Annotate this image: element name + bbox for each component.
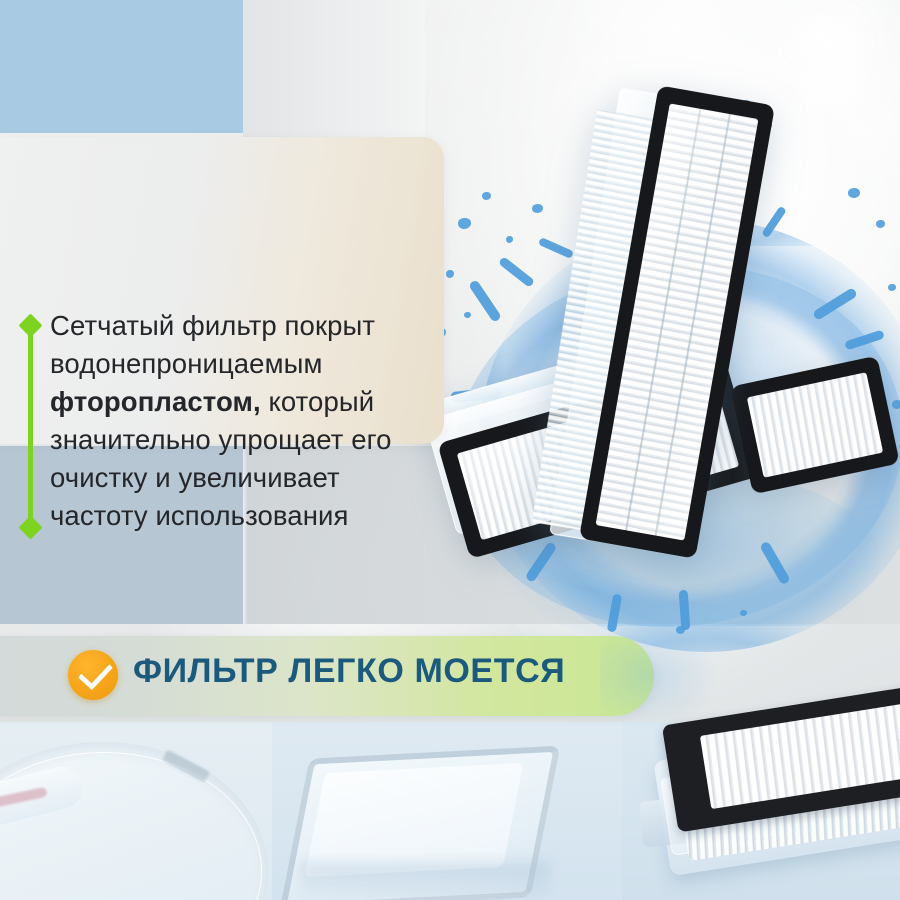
top-strip-block [243,0,425,137]
feature-text: Сетчатый фильтр покрыт водонепроницаемым… [50,307,422,535]
water-droplet-icon [888,284,896,291]
highlight-banner-label: ФИЛЬТР ЛЕГКО МОЕТСЯ [133,652,653,691]
filter-tray-shadow [300,862,550,900]
water-droplet-icon [892,400,900,409]
filter-pleated-media [747,372,883,478]
feature-text-lead: Сетчатый фильтр покрыт водонепроницаемым [50,310,375,379]
filter-tray-surface [305,763,524,877]
accent-line [28,317,33,527]
top-left-blue-block [0,0,243,133]
diamond-marker-icon [18,313,42,337]
feature-text-bold: фторопластом, [50,386,261,417]
hero-filter-splash [440,70,900,650]
promo-banner-image: Сетчатый фильтр покрыт водонепроницаемым… [0,0,900,900]
feature-text-card: Сетчатый фильтр покрыт водонепроницаемым… [0,137,444,444]
water-droplet-icon [446,270,454,278]
